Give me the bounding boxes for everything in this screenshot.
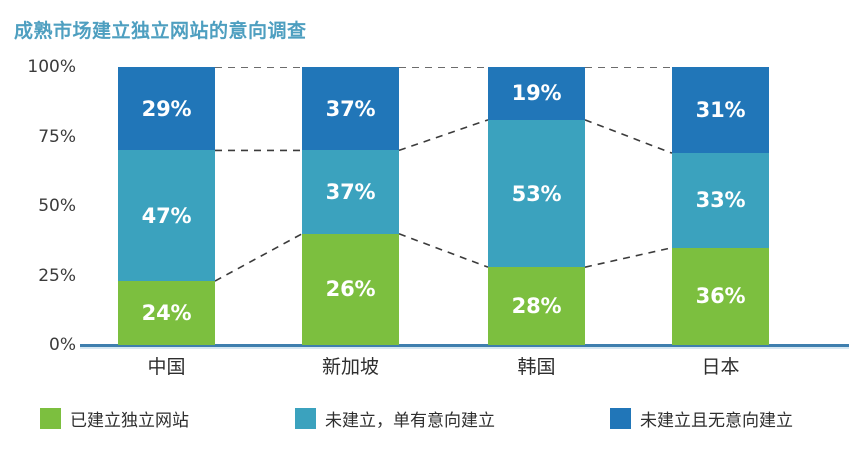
x-axis-category-label: 日本 (672, 352, 769, 379)
y-axis-tick-label: 25% (38, 266, 76, 286)
legend-item[interactable]: 已建立独立网站 (40, 406, 189, 431)
bar-segment[interactable]: 28% (488, 267, 585, 345)
y-axis: 0%25%50%75%100% (0, 67, 82, 345)
bar-segment[interactable]: 47% (118, 150, 215, 281)
y-axis-tick-label: 100% (27, 57, 76, 77)
legend-label: 未建立，单有意向建立 (325, 406, 495, 431)
bar-segment-value-label: 37% (326, 97, 376, 121)
y-axis-tick-label: 50% (38, 196, 76, 216)
bar-segment[interactable]: 26% (302, 234, 399, 345)
x-axis-category-labels: 中国新加坡韩国日本 (88, 352, 849, 386)
x-axis-category-label: 新加坡 (302, 352, 399, 379)
plot-area: 24%47%29%26%37%37%28%53%19%36%33%31% (88, 67, 849, 345)
bar-segment[interactable]: 19% (488, 67, 585, 120)
bar-segment-value-label: 26% (326, 277, 376, 301)
bar-segment[interactable]: 29% (118, 67, 215, 150)
bar-segment-value-label: 47% (142, 204, 192, 228)
bar-segment[interactable]: 24% (118, 281, 215, 345)
chart-legend: 已建立独立网站未建立，单有意向建立未建立且无意向建立 (0, 406, 849, 442)
legend-color-swatch (610, 408, 631, 429)
chart-title: 成熟市场建立独立网站的意向调查 (14, 16, 307, 43)
legend-color-swatch (40, 408, 61, 429)
bar-segment[interactable]: 36% (672, 248, 769, 345)
legend-label: 已建立独立网站 (70, 406, 189, 431)
stacked-bar[interactable]: 24%47%29% (118, 67, 215, 345)
legend-color-swatch (295, 408, 316, 429)
x-axis-category-label: 韩国 (488, 352, 585, 379)
bar-segment[interactable]: 53% (488, 120, 585, 267)
x-axis-category-label: 中国 (118, 352, 215, 379)
stacked-bar[interactable]: 36%33%31% (672, 67, 769, 345)
bar-segment-value-label: 53% (512, 182, 562, 206)
chart-container: 成熟市场建立独立网站的意向调查 0%25%50%75%100% 24%47%29… (0, 0, 849, 460)
bar-segment[interactable]: 33% (672, 153, 769, 248)
bar-segment-value-label: 19% (512, 81, 562, 105)
stacked-bar[interactable]: 26%37%37% (302, 67, 399, 345)
y-axis-tick-label: 75% (38, 127, 76, 147)
bar-segment-value-label: 31% (696, 98, 746, 122)
legend-label: 未建立且无意向建立 (640, 406, 793, 431)
y-axis-tick-label: 0% (49, 335, 76, 355)
bar-segment[interactable]: 37% (302, 150, 399, 233)
bar-segment-value-label: 36% (696, 284, 746, 308)
bar-segment-value-label: 24% (142, 301, 192, 325)
legend-item[interactable]: 未建立，单有意向建立 (295, 406, 495, 431)
bar-segment-value-label: 33% (696, 188, 746, 212)
bar-segment[interactable]: 31% (672, 67, 769, 153)
bar-segment-value-label: 37% (326, 180, 376, 204)
bar-segment-value-label: 28% (512, 294, 562, 318)
stacked-bar[interactable]: 28%53%19% (488, 67, 585, 345)
x-axis-line-shadow (80, 347, 849, 349)
bar-segment[interactable]: 37% (302, 67, 399, 150)
legend-item[interactable]: 未建立且无意向建立 (610, 406, 793, 431)
bar-segment-value-label: 29% (142, 97, 192, 121)
